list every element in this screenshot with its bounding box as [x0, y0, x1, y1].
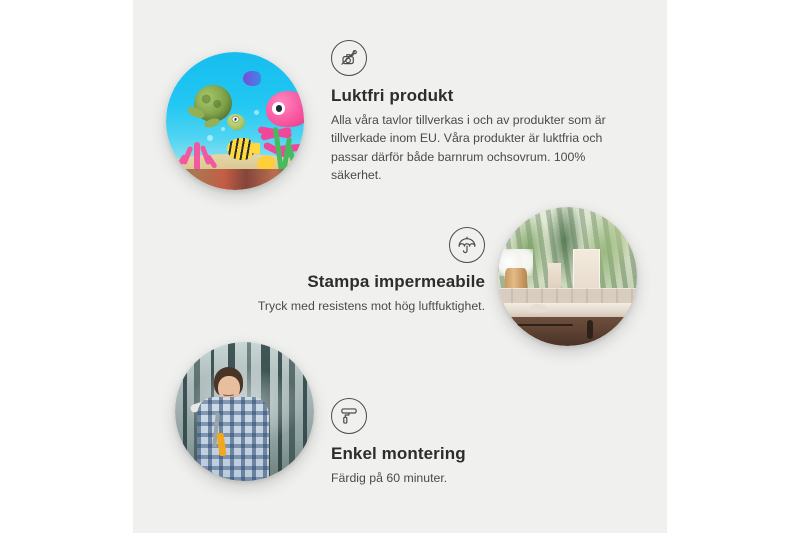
bathroom-wallpaper-photo [498, 207, 637, 346]
icon-wrap [331, 40, 621, 76]
feature-title: Enkel montering [331, 444, 601, 464]
no-fragrance-icon [331, 40, 367, 76]
woman-with-roller [192, 367, 278, 481]
installer-forest-photo [175, 342, 314, 481]
seaweed-icon [274, 127, 296, 174]
feature-title: Stampa impermeabile [205, 272, 485, 292]
feature-mounting: Enkel montering Färdig på 60 minuter. [331, 398, 601, 487]
umbrella-icon [449, 227, 485, 263]
feature-body: Tryck med resistens mot hög luftfuktighe… [205, 297, 485, 315]
wood-vanity-cabinet [509, 317, 637, 346]
coral-icon [177, 135, 216, 171]
feature-waterproof: Stampa impermeabile Tryck med resistens … [205, 227, 485, 315]
yellow-fish-icon [227, 138, 255, 160]
feature-body: Alla våra tavlor tillverkas i och av pro… [331, 111, 621, 185]
soap-dish [529, 304, 547, 312]
paint-roller-icon [331, 398, 367, 434]
feature-body: Färdig på 60 minuter. [331, 469, 601, 487]
promo-infographic: Luktfri produkt Alla våra tavlor tillver… [0, 0, 800, 533]
icon-wrap [205, 227, 485, 272]
turtle-icon [185, 82, 246, 132]
feature-odorless: Luktfri produkt Alla våra tavlor tillver… [331, 40, 621, 185]
underwater-cartoon-photo [166, 52, 304, 190]
feature-title: Luktfri produkt [331, 86, 621, 106]
icon-wrap [331, 398, 601, 434]
sea-bottom-band [166, 169, 304, 190]
